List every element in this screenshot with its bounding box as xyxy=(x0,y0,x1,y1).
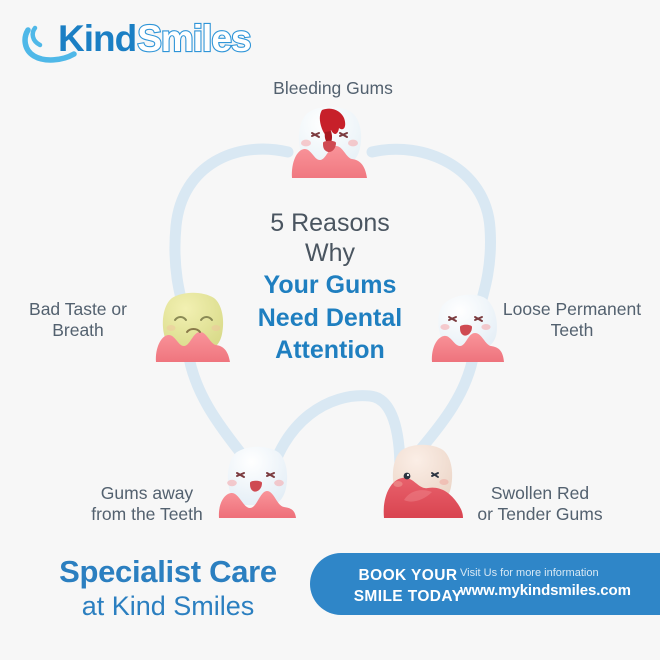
cta-banner[interactable]: BOOK YOUR SMILE TODAY Visit Us for more … xyxy=(310,553,660,615)
headline-line-1: 5 Reasons xyxy=(230,208,430,238)
tooth-receding-gums-icon xyxy=(210,442,306,522)
visit-us-text: Visit Us for more information xyxy=(460,566,660,581)
reason-label-loose-teeth: Loose Permanent Teeth xyxy=(492,299,652,341)
headline-line-3: Your Gums xyxy=(230,270,430,301)
center-headline: 5 Reasons Why Your Gums Need Dental Atte… xyxy=(230,208,430,366)
reason-label-bleeding-gums: Bleeding Gums xyxy=(238,78,428,99)
tooth-yellow-sad-icon xyxy=(145,288,243,366)
website-url[interactable]: www.mykindsmiles.com xyxy=(460,581,660,600)
footer-headline-line-2: at Kind Smiles xyxy=(28,590,308,623)
reason-label-bad-taste: Bad Taste or Breath xyxy=(14,299,142,341)
tooth-bleeding-gums-icon xyxy=(278,100,382,182)
reason-node-bad-taste[interactable] xyxy=(145,288,243,366)
footer-headline-line-1: Specialist Care xyxy=(28,554,308,590)
headline-line-5: Attention xyxy=(230,335,430,366)
footer-banner: Specialist Care at Kind Smiles BOOK YOUR… xyxy=(0,545,660,660)
reason-label-swollen-gums: Swollen Red or Tender Gums xyxy=(458,483,622,525)
footer-headline: Specialist Care at Kind Smiles xyxy=(28,554,308,623)
reason-label-gums-away: Gums away from the Teeth xyxy=(72,483,222,525)
infographic-canvas: KindSmiles xyxy=(0,0,660,660)
reason-node-gums-away[interactable] xyxy=(210,442,306,522)
headline-line-4: Need Dental xyxy=(230,303,430,334)
reason-node-bleeding-gums[interactable] xyxy=(278,100,382,182)
website-info[interactable]: Visit Us for more information www.mykind… xyxy=(460,566,660,600)
headline-line-2: Why xyxy=(230,238,430,268)
